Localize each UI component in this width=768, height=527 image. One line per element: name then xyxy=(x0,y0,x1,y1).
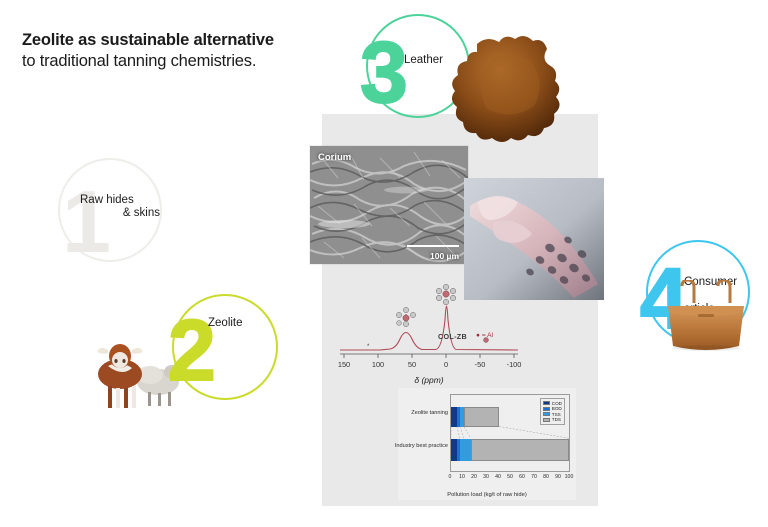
nmr-xtick-1: 100 xyxy=(372,360,384,369)
barchart-xtick-6: 60 xyxy=(519,474,525,480)
nmr-spectrum-chart: * 150 xyxy=(336,284,522,384)
barchart-xtick-4: 40 xyxy=(495,474,501,480)
page-title: Zeolite as sustainable alternative to tr… xyxy=(22,30,342,72)
legend-label-tss: TSS xyxy=(552,412,561,417)
step-1-label-line1: Raw hides xyxy=(80,194,134,206)
step-1-label: Raw hides & skins xyxy=(80,180,160,234)
legend-label-bod: BOD xyxy=(552,406,562,411)
sem-caption: Corium xyxy=(318,152,351,163)
legend-swatch-cod xyxy=(543,401,550,405)
barchart-xtick-7: 70 xyxy=(531,474,537,480)
step-2-label: Zeolite xyxy=(208,317,278,331)
title-line-1: Zeolite as sustainable alternative xyxy=(22,30,342,51)
alo6-molecule xyxy=(436,284,456,305)
sem-scale-label: 100 µm xyxy=(430,251,459,261)
barchart-xtick-3: 30 xyxy=(483,474,489,480)
barchart-xtick-2: 20 xyxy=(471,474,477,480)
nmr-xtick-0: 150 xyxy=(338,360,350,369)
step-4-consumer-article[interactable]: 4 Consumer article xyxy=(636,236,768,356)
nmr-series-label: COL-ZB xyxy=(438,332,467,341)
pollution-load-chart: COD BOD TSS TDS Zeolite tanning Industry… xyxy=(398,388,576,500)
legend-item-tds: TDS xyxy=(543,417,562,422)
legend-swatch-tds xyxy=(543,418,550,422)
barchart-row-label-industry: Industry best practice xyxy=(395,443,448,449)
barchart-xtick-10: 100 xyxy=(565,474,574,480)
nmr-xtick-2: 50 xyxy=(408,360,416,369)
nmr-xtick-5: -100 xyxy=(507,360,522,369)
legend-item-bod: BOD xyxy=(543,406,562,411)
barchart-xtick-1: 10 xyxy=(459,474,465,480)
barchart-xtick-5: 50 xyxy=(507,474,513,480)
step-3-number: 3 xyxy=(360,30,408,116)
alo4-molecule xyxy=(396,307,415,326)
barchart-plot-area: COD BOD TSS TDS xyxy=(450,394,570,472)
legend-label-cod: COD xyxy=(552,401,562,406)
legend-item-tss: TSS xyxy=(543,412,562,417)
legend-item-cod: COD xyxy=(543,401,562,406)
sem-scalebar xyxy=(407,245,459,247)
sem-corium-image: Corium 100 µm xyxy=(310,146,468,264)
title-line-2: to traditional tanning chemistries. xyxy=(22,51,342,72)
barchart-xaxis-label: Pollution load (kg/t of raw hide) xyxy=(398,492,576,498)
barchart-xtick-0: 0 xyxy=(449,474,452,480)
infographic-canvas: Zeolite as sustainable alternative to tr… xyxy=(0,0,768,527)
nmr-plot: * xyxy=(336,284,522,362)
nmr-legend-label: ● = Al xyxy=(476,332,493,339)
legend-swatch-bod xyxy=(543,407,550,411)
barchart-row-label-zeolite: Zeolite tanning xyxy=(411,410,448,416)
barchart-xtick-9: 90 xyxy=(555,474,561,480)
step-1-label-line2: & skins xyxy=(80,207,160,221)
nmr-xtick-3: 0 xyxy=(444,360,448,369)
nmr-xaxis-label: δ (ppm) xyxy=(336,375,522,385)
handbag-icon xyxy=(658,280,754,352)
collagen-fibre-image xyxy=(464,178,604,300)
barchart-legend: COD BOD TSS TDS xyxy=(540,398,565,425)
legend-swatch-tss xyxy=(543,412,550,416)
legend-label-tds: TDS xyxy=(552,417,561,422)
leather-hide-image xyxy=(444,34,574,150)
step-2-zeolite[interactable]: 2 Zeolite xyxy=(160,292,290,412)
step-1-raw-hides[interactable]: 1 Raw hides & skins xyxy=(36,152,156,272)
barchart-xtick-8: 80 xyxy=(543,474,549,480)
nmr-xtick-4: -50 xyxy=(475,360,486,369)
svg-text:*: * xyxy=(367,344,370,350)
